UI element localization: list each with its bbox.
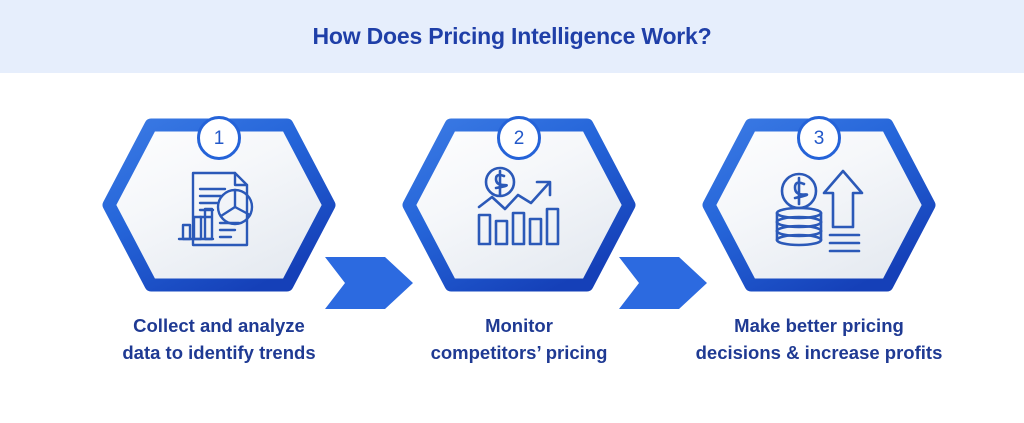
caption-line: data to identify trends (69, 340, 369, 367)
caption-line: competitors’ pricing (369, 340, 669, 367)
page-title: How Does Pricing Intelligence Work? (313, 23, 712, 50)
connector-arrow-1 (325, 257, 413, 309)
badge-number: 3 (814, 129, 825, 148)
header-banner: How Does Pricing Intelligence Work? (0, 0, 1024, 73)
badge-circle: 3 (797, 116, 841, 160)
step-3[interactable]: 3 Make better pricing decisions & increa… (689, 113, 949, 403)
caption-line: Collect and analyze (69, 313, 369, 340)
step-2-hexagon[interactable]: 2 (389, 113, 649, 298)
coin-stack-up-arrow-icon (773, 165, 865, 253)
step-1-number-badge: 1 (197, 116, 241, 160)
dollar-trend-bar-chart-icon (473, 165, 565, 253)
steps-row: 1 Collect and analyze data to identify t… (0, 73, 1024, 423)
step-2[interactable]: 2 Monitor competitors’ pricing (389, 113, 649, 403)
step-2-number-badge: 2 (497, 116, 541, 160)
caption-line: Monitor (369, 313, 669, 340)
step-1[interactable]: 1 Collect and analyze data to identify t… (89, 113, 349, 403)
step-1-caption: Collect and analyze data to identify tre… (69, 313, 369, 367)
badge-circle: 1 (197, 116, 241, 160)
badge-number: 2 (514, 129, 525, 148)
connector-arrow-2 (619, 257, 707, 309)
chevron-arrow-icon (619, 257, 707, 309)
infographic-root: How Does Pricing Intelligence Work? (0, 0, 1024, 423)
chevron-arrow-icon (325, 257, 413, 309)
step-3-caption: Make better pricing decisions & increase… (669, 313, 969, 367)
badge-number: 1 (214, 129, 225, 148)
step-3-number-badge: 3 (797, 116, 841, 160)
document-pie-bar-chart-icon (173, 165, 265, 253)
step-2-caption: Monitor competitors’ pricing (369, 313, 669, 367)
badge-circle: 2 (497, 116, 541, 160)
caption-line: decisions & increase profits (669, 340, 969, 367)
step-1-hexagon[interactable]: 1 (89, 113, 349, 298)
caption-line: Make better pricing (669, 313, 969, 340)
step-3-hexagon[interactable]: 3 (689, 113, 949, 298)
